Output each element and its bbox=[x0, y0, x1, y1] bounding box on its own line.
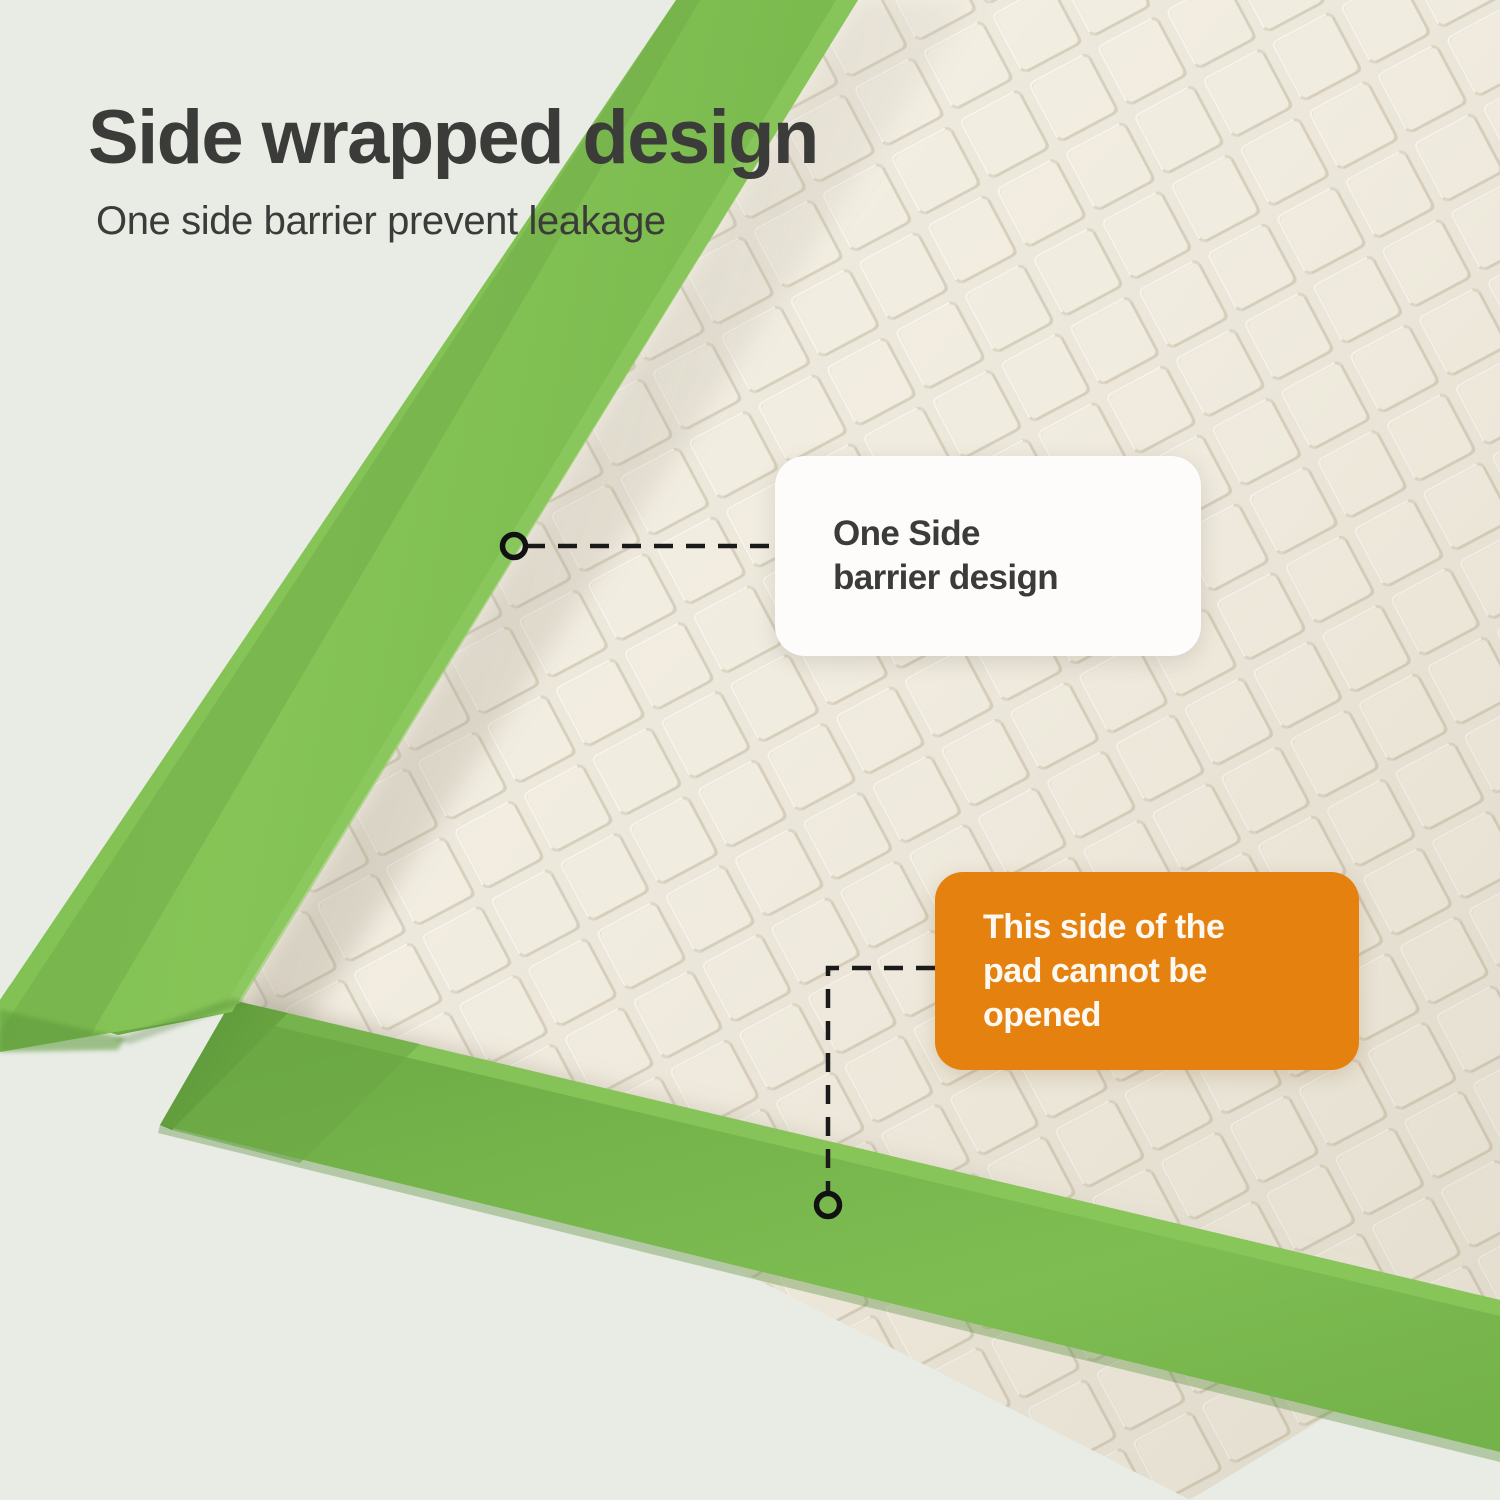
callout-one-side-barrier-design: One Side barrier design bbox=[775, 456, 1201, 656]
callout-orange-line-2: pad cannot be bbox=[983, 949, 1359, 993]
callout-orange-line-1: This side of the bbox=[983, 905, 1359, 949]
infographic-canvas: Side wrapped design One side barrier pre… bbox=[0, 0, 1500, 1500]
product-photo bbox=[0, 0, 1500, 1500]
callout-pad-cannot-be-opened: This side of the pad cannot be opened bbox=[935, 872, 1359, 1070]
callout-white-line-2: barrier design bbox=[833, 556, 1201, 600]
callout-white-line-1: One Side bbox=[833, 512, 1201, 556]
callout-orange-line-3: opened bbox=[983, 993, 1359, 1037]
